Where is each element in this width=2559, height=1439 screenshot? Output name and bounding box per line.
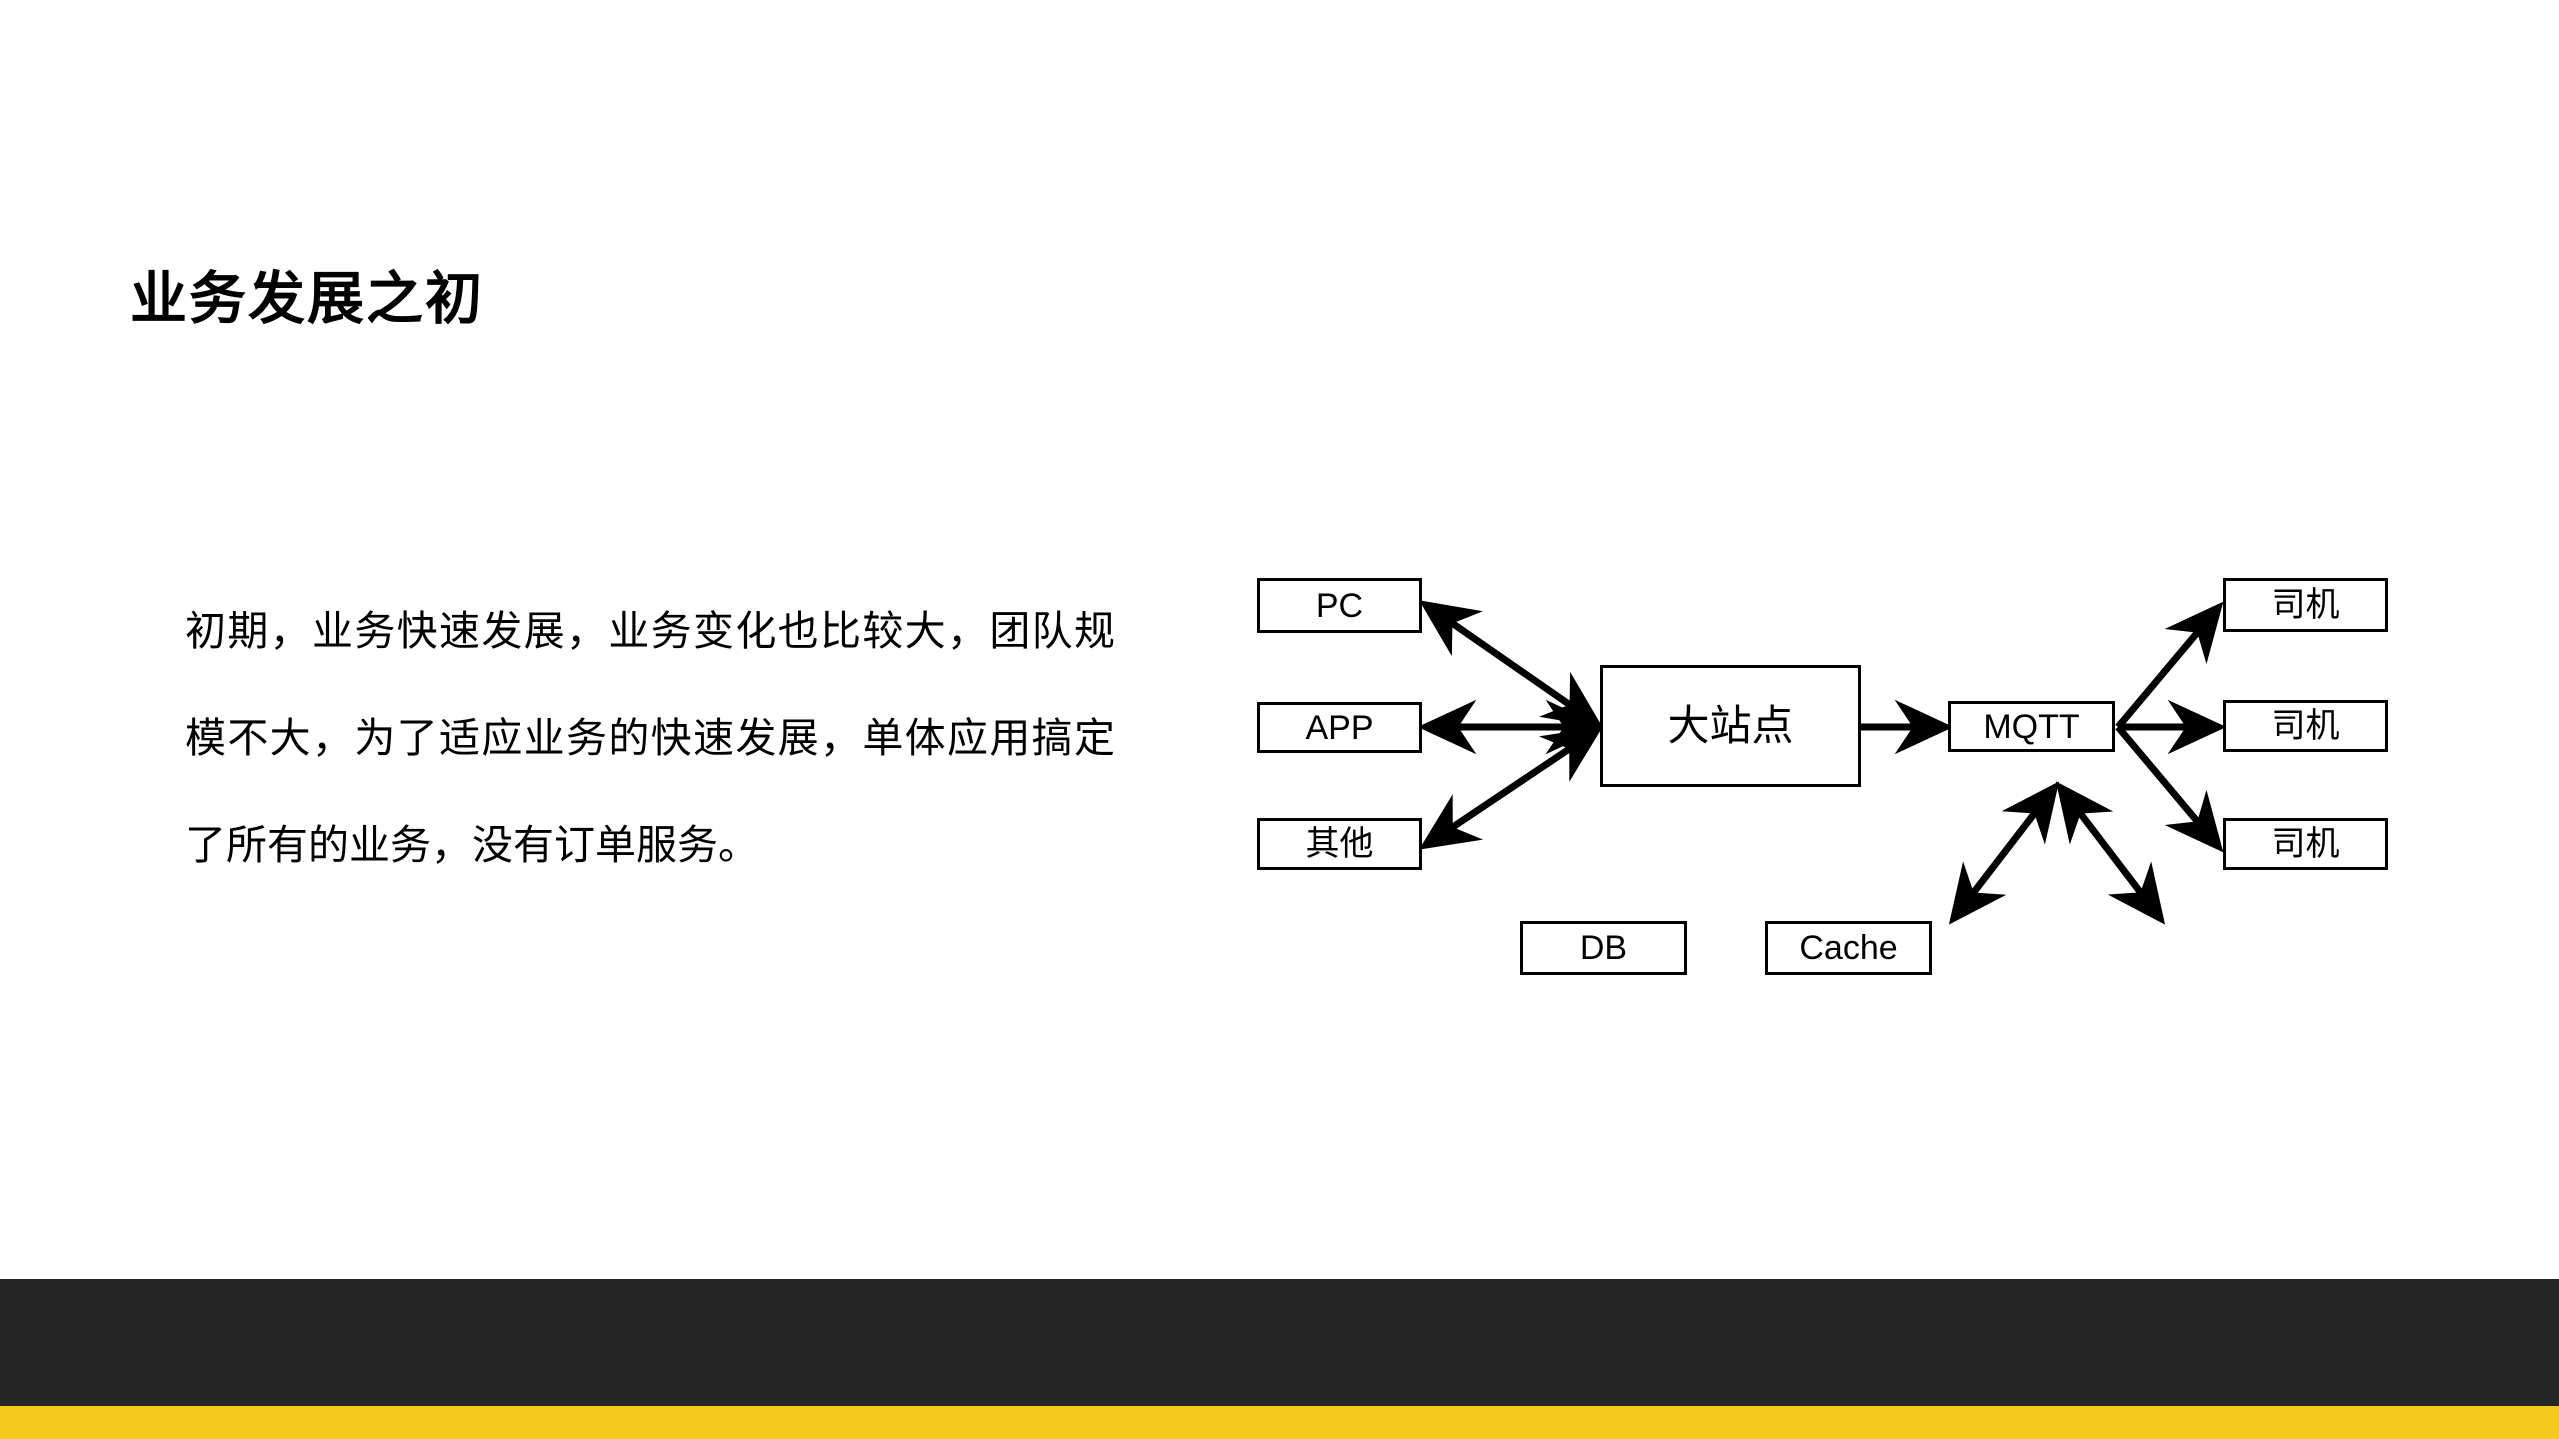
node-driver-3[interactable]: 司机 [2223, 818, 2388, 870]
node-main-site-label: 大站点 [1667, 705, 1793, 747]
node-other[interactable]: 其他 [1257, 818, 1422, 870]
node-mqtt-label: MQTT [1983, 710, 2079, 744]
node-cache-label: Cache [1799, 931, 1897, 965]
slide-canvas: 业务发展之初 初期，业务快速发展，业务变化也比较大，团队规模不大，为了适应业务的… [0, 0, 2559, 1439]
edge-mqtt-driver-1 [2118, 608, 2218, 727]
node-app-label: APP [1305, 711, 1373, 745]
edge-mqtt-driver-3 [2118, 727, 2218, 846]
edge-mainsite-cache [2061, 788, 2160, 918]
page-title: 业务发展之初 [130, 268, 484, 331]
footer-accent-bar [0, 1406, 2559, 1439]
edge-mainsite-db [1954, 788, 2054, 918]
node-main-site[interactable]: 大站点 [1600, 665, 1861, 787]
node-driver-2[interactable]: 司机 [2223, 700, 2388, 752]
node-driver-2-label: 司机 [2272, 709, 2340, 743]
node-driver-1-label: 司机 [2272, 588, 2340, 622]
node-db-label: DB [1580, 931, 1627, 965]
footer-dark-bar [0, 1279, 2559, 1406]
node-pc-label: PC [1316, 589, 1363, 623]
body-paragraph: 初期，业务快速发展，业务变化也比较大，团队规模不大，为了适应业务的快速发展，单体… [185, 578, 1115, 899]
node-cache[interactable]: Cache [1765, 921, 1932, 975]
edge-pc-mainsite [1426, 605, 1596, 723]
node-driver-3-label: 司机 [2272, 827, 2340, 861]
node-other-label: 其他 [1306, 827, 1374, 861]
edge-other-mainsite [1426, 731, 1596, 845]
architecture-diagram: PC APP 其他 大站点 DB Cache MQTT 司机 司机 司机 [1240, 550, 2470, 1020]
node-db[interactable]: DB [1520, 921, 1687, 975]
node-pc[interactable]: PC [1257, 578, 1422, 633]
node-mqtt[interactable]: MQTT [1948, 701, 2115, 752]
node-driver-1[interactable]: 司机 [2223, 578, 2388, 632]
node-app[interactable]: APP [1257, 702, 1422, 753]
